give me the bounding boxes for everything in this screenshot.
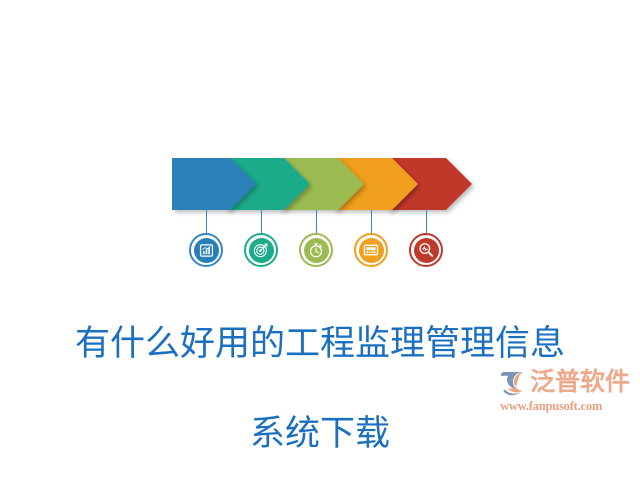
page-title-line1: 有什么好用的工程监理管理信息 <box>0 321 640 366</box>
chevron-process-banner <box>172 158 472 210</box>
search-chart-icon <box>418 242 434 258</box>
target-icon <box>253 242 269 258</box>
watermark-row: 泛普软件 <box>498 367 634 399</box>
process-badge-2[interactable] <box>244 233 278 267</box>
badge-inner-2 <box>249 238 274 263</box>
watermark-brand: 泛普软件 <box>530 369 630 397</box>
stopwatch-icon <box>308 242 324 258</box>
slide-canvas: 有什么好用的工程监理管理信息 系统下载 泛普软件 www.fanpusoft.c… <box>0 0 640 427</box>
connector-stem-1 <box>206 210 207 234</box>
process-badge-5[interactable] <box>409 233 443 267</box>
connector-stem-4 <box>371 210 372 234</box>
badge-inner-1 <box>194 238 219 263</box>
bar-chart-icon <box>199 243 214 258</box>
page-title-line2: 系统下载 <box>0 411 640 456</box>
monitor-icon <box>363 242 379 258</box>
connector-stem-2 <box>261 210 262 234</box>
fanpu-logo-icon <box>498 369 528 398</box>
watermark-logo: 泛普软件 www.fanpusoft.com <box>498 367 634 417</box>
badge-inner-5 <box>414 238 439 263</box>
process-badge-3[interactable] <box>299 233 333 267</box>
process-badge-4[interactable] <box>354 233 388 267</box>
badge-inner-3 <box>304 238 329 263</box>
watermark-url: www.fanpusoft.com <box>498 399 634 413</box>
connector-stem-5 <box>426 210 427 234</box>
process-badge-1[interactable] <box>189 233 223 267</box>
connector-stem-3 <box>316 210 317 234</box>
badge-inner-4 <box>359 238 384 263</box>
